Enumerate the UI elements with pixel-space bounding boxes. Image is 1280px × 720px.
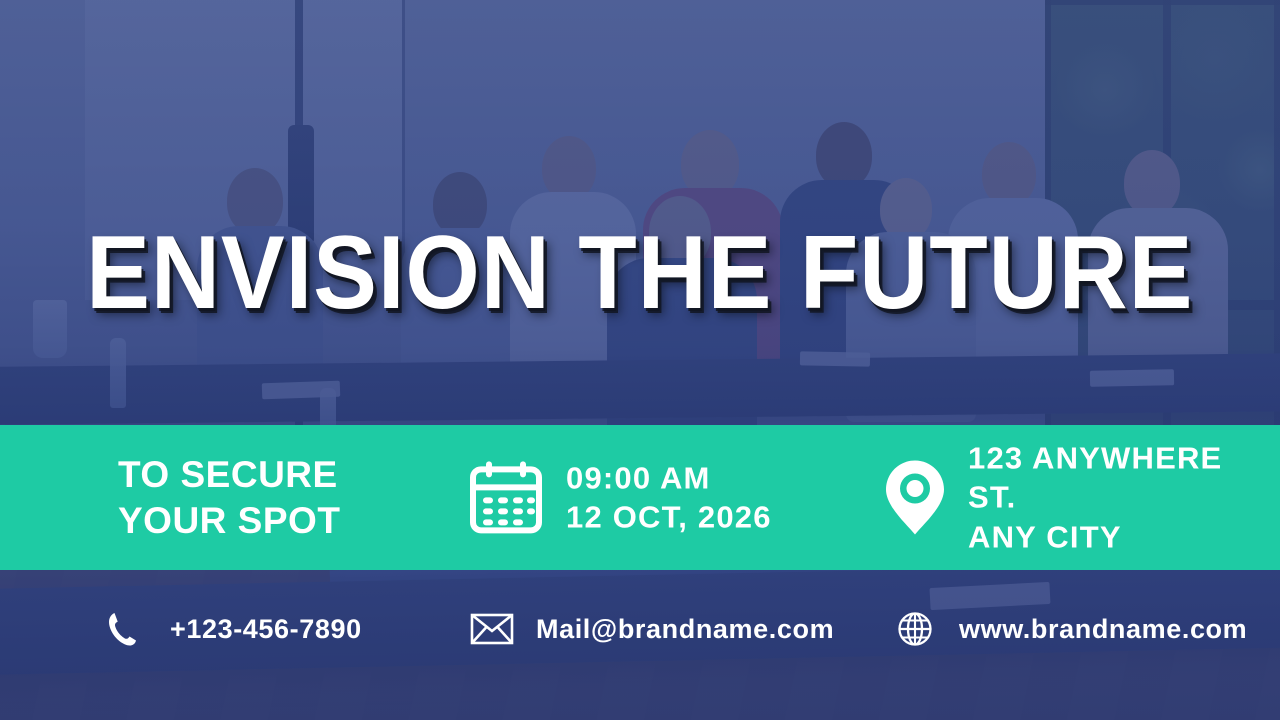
contact-website[interactable]: www.brandname.com <box>893 598 1247 660</box>
phone-number: +123-456-7890 <box>170 614 362 645</box>
date-time-block: 09:00 AM 12 OCT, 2026 <box>468 458 772 537</box>
email-address: Mail@brandname.com <box>536 614 834 645</box>
location-text: 123 ANYWHERE ST. ANY CITY <box>968 438 1280 557</box>
location-pin-icon <box>884 458 946 536</box>
page-title: ENVISION THE FUTURE <box>86 221 1193 325</box>
location-block: 123 ANYWHERE ST. ANY CITY <box>884 438 1280 557</box>
contact-phone[interactable]: +123-456-7890 <box>100 598 362 660</box>
contact-bar: +123-456-7890 Mail@brandname.com <box>0 598 1280 660</box>
calendar-icon <box>468 461 544 535</box>
date-time-text: 09:00 AM 12 OCT, 2026 <box>566 458 772 537</box>
envelope-icon <box>470 607 514 651</box>
contact-email[interactable]: Mail@brandname.com <box>470 598 834 660</box>
phone-icon <box>100 607 144 651</box>
info-band: TO SECURE YOUR SPOT <box>0 425 1280 570</box>
event-banner: ENVISION THE FUTURE TO SECURE YOUR SPOT <box>0 0 1280 720</box>
headline-area: ENVISION THE FUTURE <box>0 213 1280 333</box>
cta-label: TO SECURE YOUR SPOT <box>118 451 340 544</box>
globe-icon <box>893 607 937 651</box>
website-url: www.brandname.com <box>959 614 1247 645</box>
